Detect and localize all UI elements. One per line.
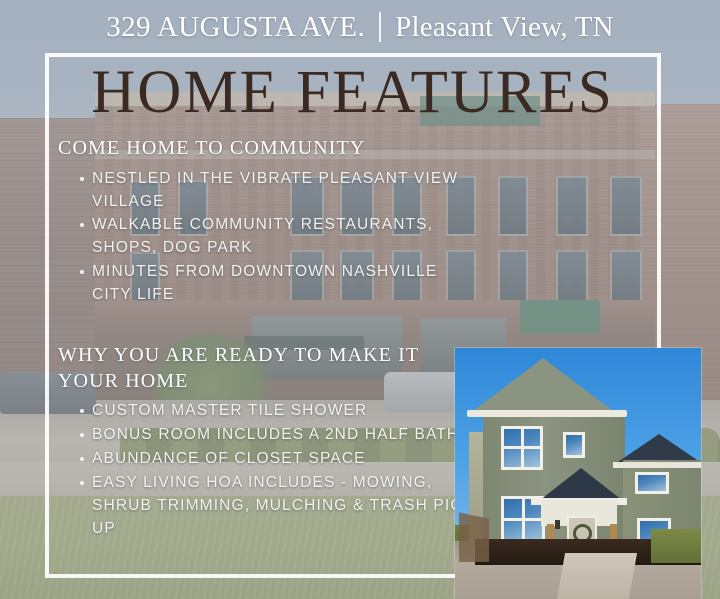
property-photo [455,348,701,599]
photo-porch-light [555,520,560,529]
list-item: MINUTES FROM DOWNTOWN NASHVILLE CITY LIF… [80,261,478,307]
photo-lawn-right [651,529,701,563]
list-item: NESTLED IN THE VIBRATE PLEASANT VIEW VIL… [80,168,478,214]
list-item: BONUS ROOM INCLUDES A 2ND HALF BATH [80,424,478,447]
photo-window [635,472,669,494]
list-item: EASY LIVING HOA INCLUDES - MOWING, SHRUB… [80,472,478,541]
photo-walkway [557,553,637,599]
property-address: 329 AUGUSTA AVE. [106,11,365,44]
list-item: CUSTOM MASTER TILE SHOWER [80,400,478,423]
photo-bare-tree [459,466,489,562]
header-bar: 329 AUGUSTA AVE. Pleasant View, TN [0,4,720,50]
list-item: WALKABLE COMMUNITY RESTAURANTS, SHOPS, D… [80,214,478,260]
section-community: COME HOME TO COMMUNITY NESTLED IN THE VI… [58,136,478,307]
photo-window-mullion [501,518,545,521]
property-city-state: Pleasant View, TN [395,11,614,44]
page-title: HOME FEATURES [45,62,660,124]
features-content: COME HOME TO COMMUNITY NESTLED IN THE VI… [58,136,478,545]
photo-window [563,432,585,458]
photo-main-gable-roof [469,358,617,414]
list-item: ABUNDANCE OF CLOSET SPACE [80,448,478,471]
section-heading: WHY YOU ARE READY TO MAKE IT YOUR HOME [58,343,478,394]
section-heading: COME HOME TO COMMUNITY [58,136,478,162]
real-estate-flyer: 329 AUGUSTA AVE. Pleasant View, TN HOME … [0,0,720,599]
header-divider [379,12,381,42]
feature-list: NESTLED IN THE VIBRATE PLEASANT VIEW VIL… [58,168,478,308]
feature-list: CUSTOM MASTER TILE SHOWER BONUS ROOM INC… [58,400,478,541]
photo-eave-trim [467,410,627,417]
photo-window-mullion [501,446,543,449]
section-ready-for-home: WHY YOU ARE READY TO MAKE IT YOUR HOME C… [58,343,478,541]
